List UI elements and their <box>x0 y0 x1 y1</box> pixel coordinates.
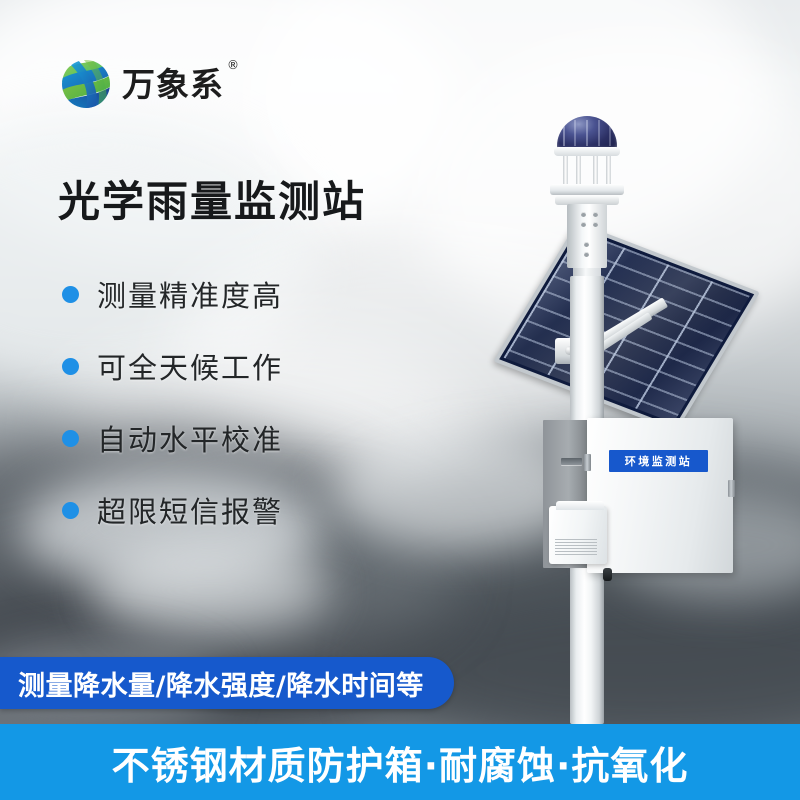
cabinet-label-text: 环境监测站 <box>625 453 693 469</box>
feature-label: 测量精准度高 <box>97 273 283 315</box>
monitoring-station-product: 环境监测站 <box>495 100 785 724</box>
sensor-neck <box>567 204 607 268</box>
optical-rain-sensor <box>550 116 624 266</box>
product-poster: 环境监测站 <box>0 0 800 800</box>
blue-dot-icon <box>62 430 79 447</box>
pill-banner-text: 测量降水量/降水强度/降水时间等 <box>18 664 424 703</box>
feature-label: 可全天候工作 <box>97 345 283 387</box>
list-item: 超限短信报警 <box>62 474 283 546</box>
brand-name: 万象系 ® <box>122 68 224 101</box>
blue-dot-icon <box>62 502 79 519</box>
cabinet-label-plate: 环境监测站 <box>609 450 708 472</box>
cage-post <box>563 156 568 186</box>
bottom-banner: 不锈钢材质防护箱·耐腐蚀·抗氧化 <box>0 724 800 800</box>
sensor-dome-rim <box>554 147 620 156</box>
brand-name-text: 万象系 <box>122 65 224 104</box>
blue-dot-icon <box>62 286 79 303</box>
sensor-cage <box>560 156 614 186</box>
globe-swoosh-logo-icon <box>60 58 112 110</box>
bolt-icon <box>593 212 598 217</box>
blue-dot-icon <box>62 358 79 375</box>
equipment-cabinet: 环境监测站 <box>543 418 733 578</box>
list-item: 可全天候工作 <box>62 330 283 402</box>
cage-post <box>593 156 598 186</box>
pill-banner: 测量降水量/降水强度/降水时间等 <box>0 657 454 709</box>
feature-label: 自动水平校准 <box>97 417 283 459</box>
bolt-icon <box>584 242 589 247</box>
cabinet-hinge <box>584 454 591 471</box>
sensor-shelf <box>550 184 624 195</box>
bolt-icon <box>581 222 586 227</box>
louver-vent-icon <box>555 539 597 557</box>
bolt-icon <box>593 222 598 227</box>
cloud-wisp <box>90 545 330 635</box>
list-item: 测量精准度高 <box>62 258 283 330</box>
feature-label: 超限短信报警 <box>97 489 283 531</box>
cage-post <box>576 156 581 186</box>
list-item: 自动水平校准 <box>62 402 283 474</box>
bolt-icon <box>581 212 586 217</box>
brand-logo: 万象系 ® <box>60 58 224 110</box>
cabinet-latch <box>728 480 735 497</box>
page-title: 光学雨量监测站 <box>58 168 366 229</box>
vent-box <box>549 506 607 564</box>
bottom-banner-text: 不锈钢材质防护箱·耐腐蚀·抗氧化 <box>112 735 689 790</box>
bolt-icon <box>584 252 589 257</box>
registered-trademark-icon: ® <box>227 59 240 71</box>
cabinet-slot <box>561 458 582 465</box>
cabinet-door: 环境监测站 <box>587 418 733 573</box>
sensor-dome-icon <box>557 116 617 150</box>
feature-list: 测量精准度高 可全天候工作 自动水平校准 超限短信报警 <box>62 258 283 546</box>
cage-post <box>606 156 611 186</box>
cabinet-knob <box>603 568 612 581</box>
